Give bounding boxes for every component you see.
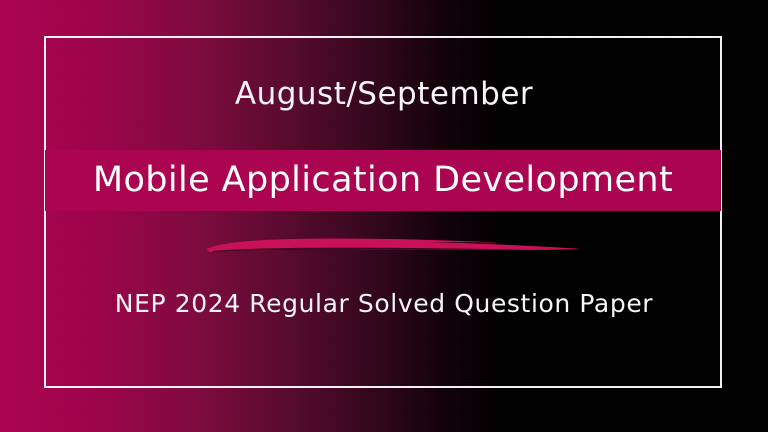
poster-eyebrow-text: August/September — [0, 76, 768, 112]
poster-canvas: August/September Mobile Application Deve… — [0, 0, 768, 432]
crimson-highlight-band: Mobile Application Development — [45, 150, 721, 211]
poster-title: Mobile Application Development — [93, 163, 673, 198]
poster-subtitle: NEP 2024 Regular Solved Question Paper — [0, 289, 768, 318]
